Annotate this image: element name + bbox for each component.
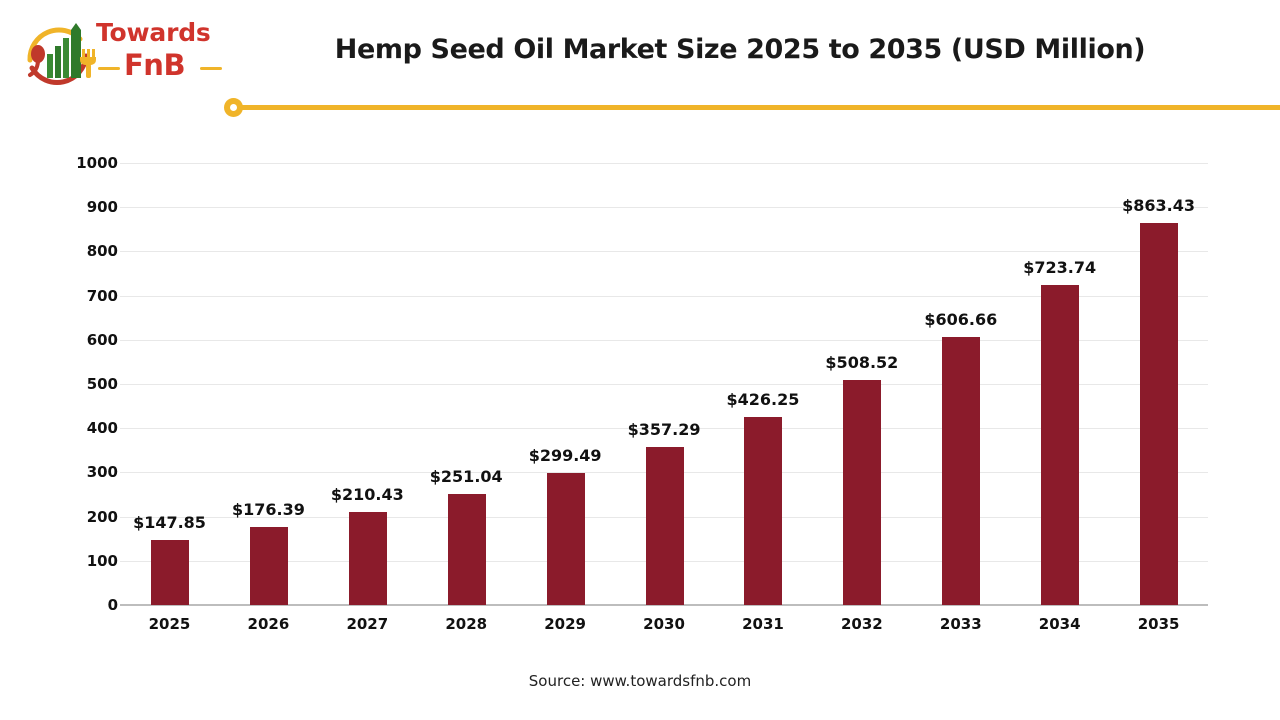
bar-group: $147.852025 [120,163,219,605]
bar-value-label: $210.43 [302,485,433,504]
x-axis-tick-label: 2035 [1093,615,1224,633]
bar-group: $863.432035 [1109,163,1208,605]
bar-group: $210.432027 [318,163,417,605]
y-axis-tick-label: 300 [54,463,118,481]
bar-group: $357.292030 [615,163,714,605]
page-title: Hemp Seed Oil Market Size 2025 to 2035 (… [250,34,1230,65]
bar[interactable] [843,380,881,605]
bar[interactable] [646,447,684,605]
brand-dash-right [200,67,222,70]
bar-group: $606.662033 [911,163,1010,605]
bar-group: $508.522032 [812,163,911,605]
bar[interactable] [547,473,585,605]
accent-dot-icon [224,98,243,117]
brand-dash-left [98,67,120,70]
y-axis-tick-label: 400 [54,419,118,437]
bar[interactable] [1140,223,1178,605]
bar[interactable] [250,527,288,605]
bar-group: $426.252031 [713,163,812,605]
bar-value-label: $863.43 [1093,196,1224,215]
bar-value-label: $251.04 [401,467,532,486]
bar-group: $251.042028 [417,163,516,605]
bar-group: $723.742034 [1010,163,1109,605]
bar-chart: 01002003004005006007008009001000$147.852… [0,130,1280,720]
bar-value-label: $606.66 [895,310,1026,329]
bar[interactable] [448,494,486,605]
y-axis-tick-label: 1000 [54,154,118,172]
bar-value-label: $299.49 [500,446,631,465]
accent-rule [232,105,1280,110]
bar[interactable] [349,512,387,605]
y-axis-tick-label: 700 [54,287,118,305]
plot-area: 01002003004005006007008009001000$147.852… [120,163,1208,605]
bar[interactable] [1041,285,1079,605]
brand-wordmark: Towards FnB [96,18,236,90]
bar-group: $299.492029 [516,163,615,605]
bar[interactable] [942,337,980,605]
bar-value-label: $508.52 [796,353,927,372]
y-axis-tick-label: 800 [54,242,118,260]
bar-value-label: $723.74 [994,258,1125,277]
brand-name-fnb: FnB [124,48,185,82]
y-axis-tick-label: 100 [54,552,118,570]
y-axis-tick-label: 0 [54,596,118,614]
bar-group: $176.392026 [219,163,318,605]
y-axis-tick-label: 600 [54,331,118,349]
bar[interactable] [744,417,782,605]
brand-name-towards: Towards [96,18,211,47]
source-note: Source: www.towardsfnb.com [0,672,1280,690]
y-axis-tick-label: 900 [54,198,118,216]
bar[interactable] [151,540,189,605]
towards-fnb-logo-icon [18,16,100,92]
bar-value-label: $357.29 [599,420,730,439]
bar-value-label: $426.25 [697,390,828,409]
brand-logo[interactable]: Towards FnB [18,14,228,94]
y-axis-tick-label: 500 [54,375,118,393]
page-header: Towards FnB Hemp Seed Oil Market Size 20… [0,0,1280,130]
